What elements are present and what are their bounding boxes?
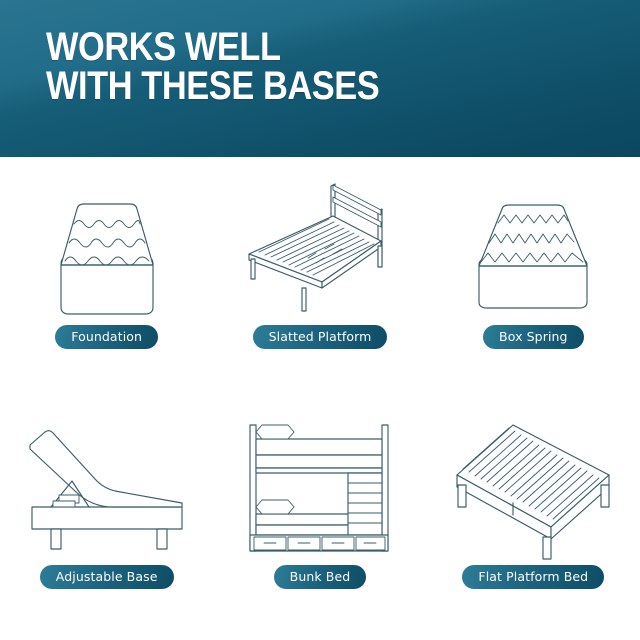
slatted-platform-bed-icon [230,169,410,319]
base-card-adjustable-base[interactable]: Adjustable Base [0,399,213,640]
base-card-foundation[interactable]: Foundation [0,157,213,399]
header-banner: WORKS WELL WITH THESE BASES [0,0,640,157]
infographic-page: WORKS WELL WITH THESE BASES Foundation [0,0,640,640]
base-card-bunk-bed[interactable]: Bunk Bed [213,399,426,640]
box-spring-icon [443,169,623,319]
bunk-bed-icon [230,411,410,561]
page-title: WORKS WELL WITH THESE BASES [46,28,379,106]
base-label-box-spring: Box Spring [483,325,584,349]
bases-grid: Foundation [0,157,640,640]
base-card-flat-platform-bed[interactable]: Flat Platform Bed [427,399,640,640]
base-label-foundation: Foundation [55,325,158,349]
base-label-adjustable-base: Adjustable Base [40,565,174,589]
base-label-flat-platform-bed: Flat Platform Bed [462,565,604,589]
adjustable-base-icon [17,411,197,561]
base-card-box-spring[interactable]: Box Spring [427,157,640,399]
flat-platform-bed-icon [443,411,623,561]
base-card-slatted-platform[interactable]: Slatted Platform [213,157,426,399]
foundation-mattress-icon [17,169,197,319]
base-label-slatted-platform: Slatted Platform [253,325,388,349]
base-label-bunk-bed: Bunk Bed [274,565,367,589]
